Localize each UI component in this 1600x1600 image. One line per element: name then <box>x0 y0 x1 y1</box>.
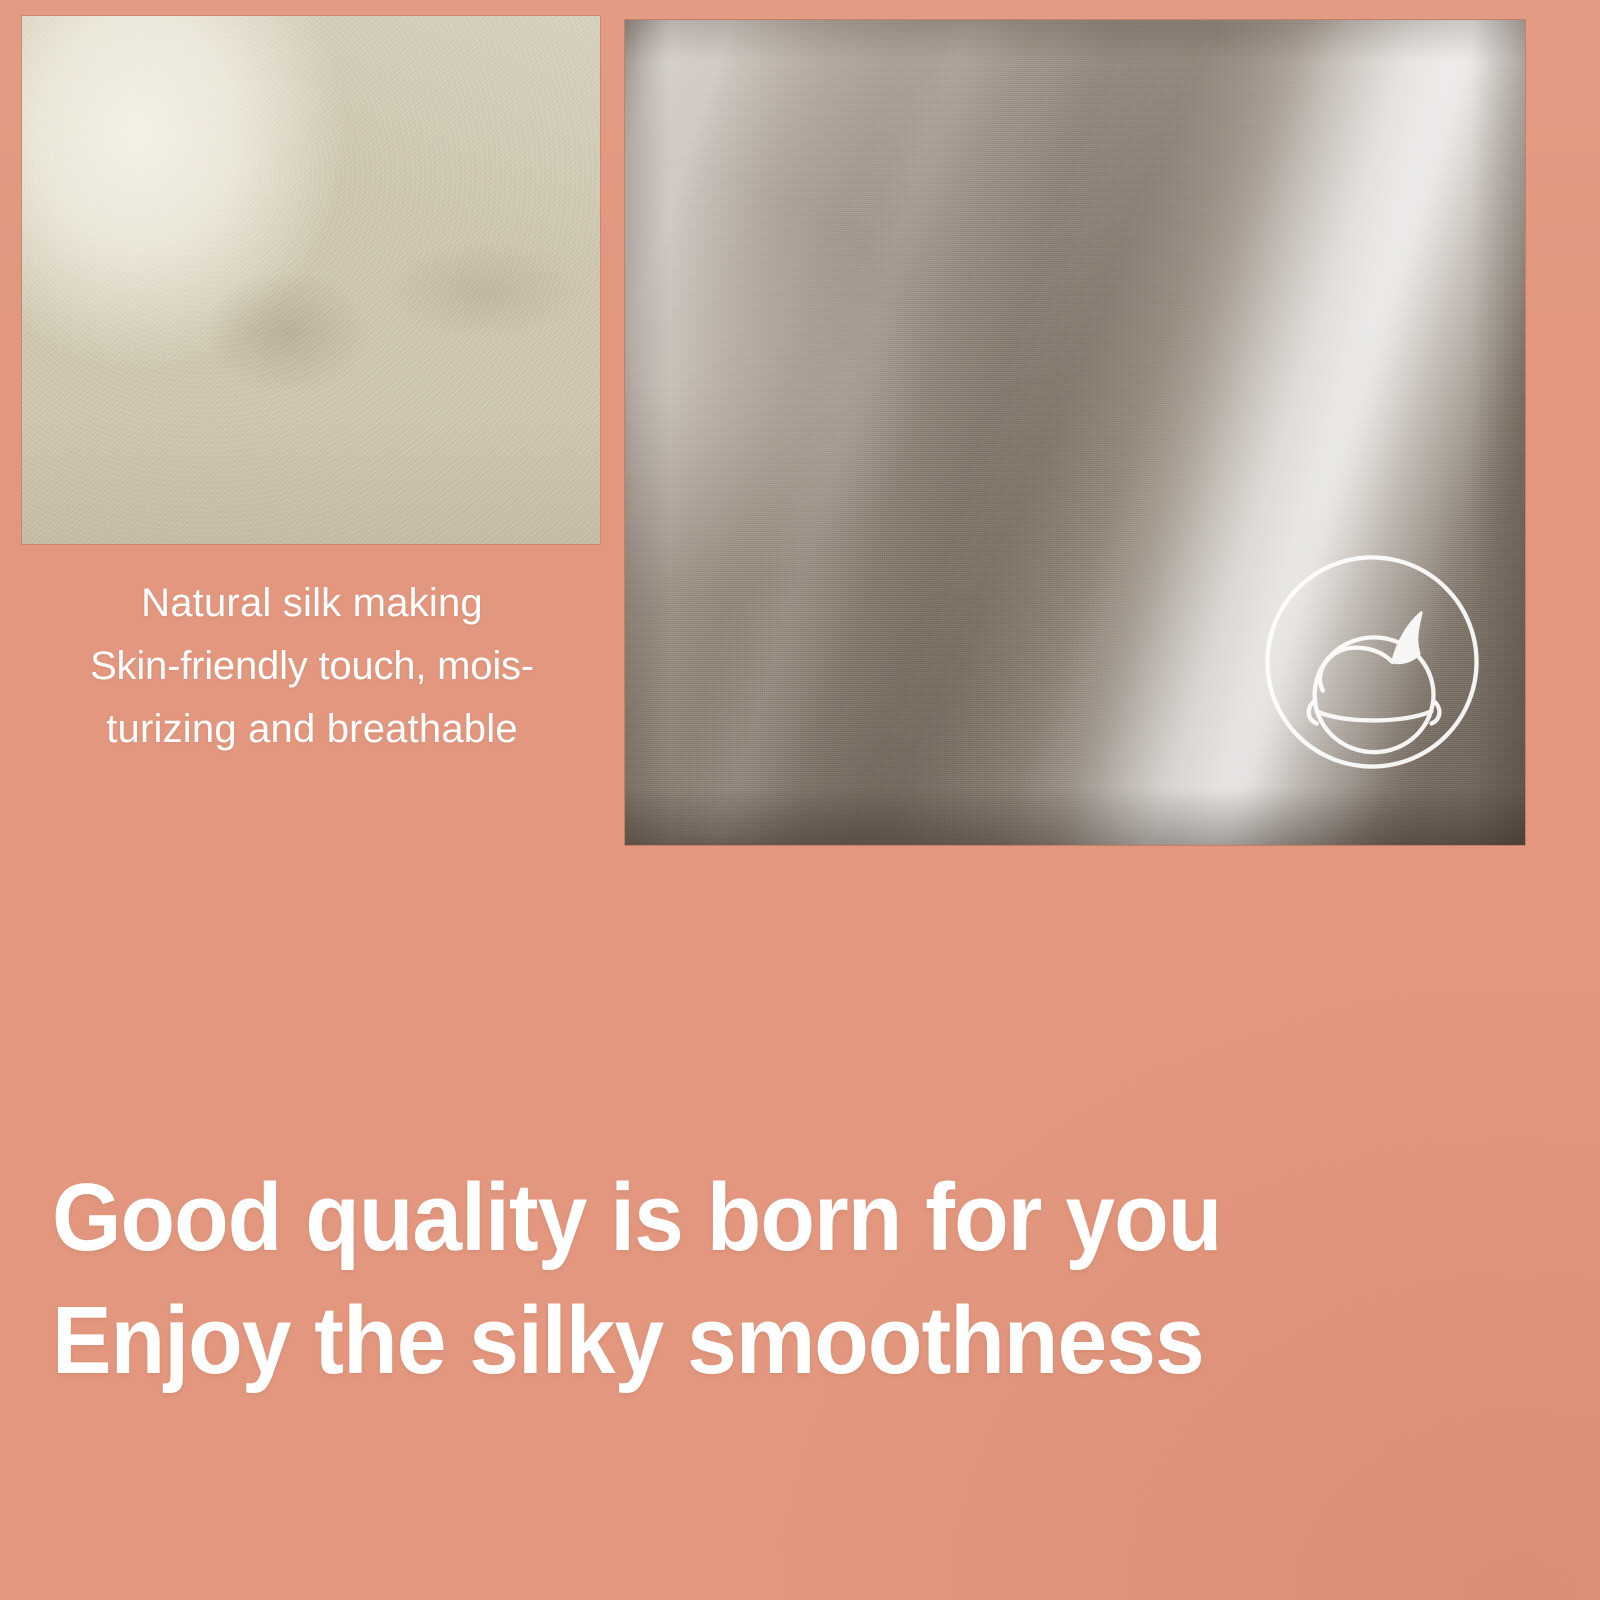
promo-banner: Natural silk making Skin-friendly touch,… <box>0 0 1600 1600</box>
caption-line-1: Natural silk making <box>18 572 606 635</box>
caption-line-3: turizing and breathable <box>18 698 606 761</box>
silk-fabric-photo <box>625 20 1525 845</box>
caption-line-2: Skin-friendly touch, mois- <box>18 635 606 698</box>
peach-logo-icon <box>1249 539 1495 785</box>
headline: Good quality is born for you Enjoy the s… <box>52 1157 1221 1403</box>
cocoon-photo <box>22 16 600 544</box>
headline-line-1: Good quality is born for you <box>52 1157 1221 1280</box>
cocoon-photo-shading <box>22 16 600 544</box>
headline-line-2: Enjoy the silky smoothness <box>52 1280 1221 1403</box>
feature-caption: Natural silk making Skin-friendly touch,… <box>18 572 606 762</box>
